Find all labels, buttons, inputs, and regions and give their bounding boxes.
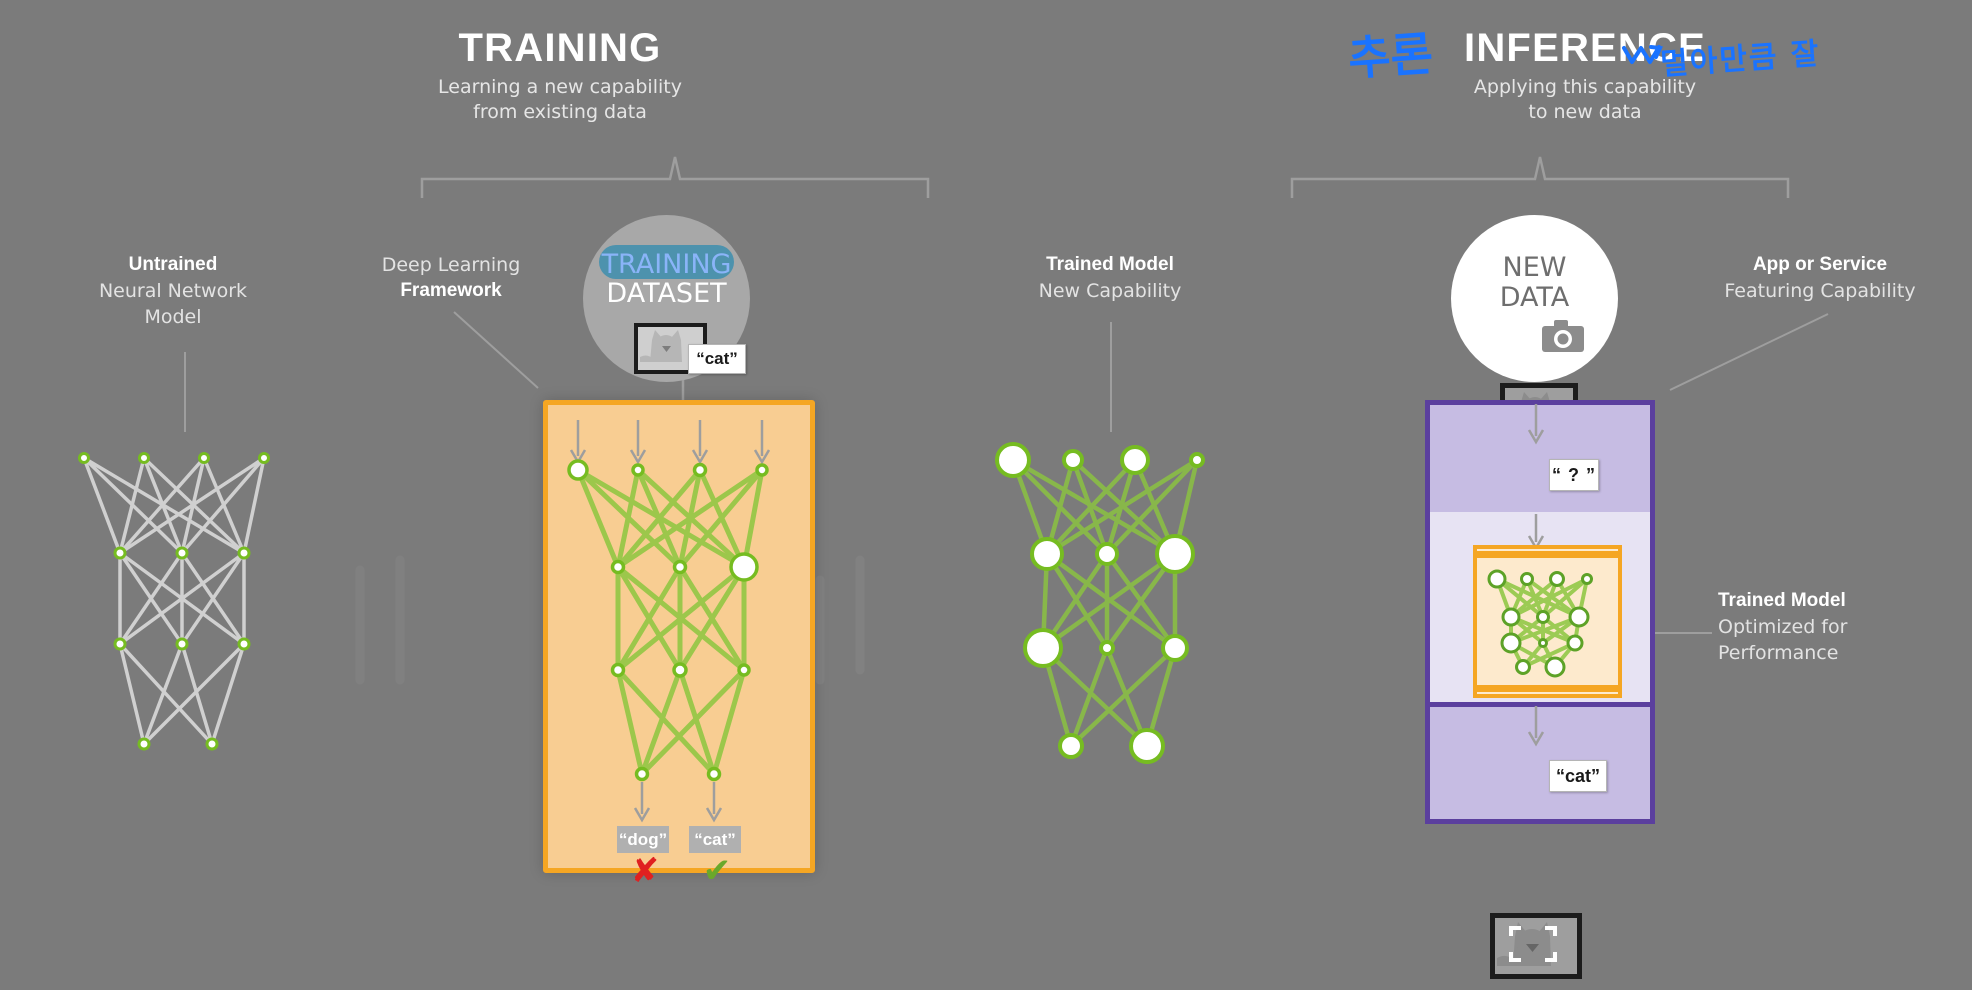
camera-icon	[1540, 318, 1586, 352]
trained-model-center-bold: Trained Model	[985, 252, 1235, 278]
trained-model-center-connector	[1110, 322, 1112, 432]
framework-connector	[452, 310, 542, 390]
inference-output-photo	[1490, 913, 1582, 979]
trained-network	[995, 448, 1225, 768]
app-or-service-label: App or Service Featuring Capability	[1695, 252, 1945, 304]
output-cat-tag: “cat”	[689, 826, 741, 853]
framework-label-line1: Deep Learning	[336, 252, 566, 278]
training-title: TRAINING	[380, 26, 740, 71]
inference-output-tag: “cat”	[1549, 760, 1607, 792]
diagram-canvas: TRAINING Learning a new capability from …	[0, 0, 1972, 990]
framework-label: Deep Learning Framework	[336, 252, 566, 304]
untrained-connector	[184, 352, 186, 432]
new-data-line2: DATA	[1451, 281, 1618, 314]
trained-model-right-line1: Optimized for	[1718, 614, 1972, 640]
training-output-arrows	[628, 780, 738, 828]
trained-model-center-label: Trained Model New Capability	[985, 252, 1235, 304]
training-network	[566, 462, 796, 792]
inference-subtitle-line1: Applying this capability	[1260, 75, 1910, 100]
untrained-label: Untrained Neural Network Model	[48, 252, 298, 330]
output-dog-cross-icon: ✘	[630, 854, 660, 888]
cat-icon	[638, 327, 695, 362]
training-subtitle-line2: from existing data	[380, 100, 740, 125]
training-dataset-line2: DATASET	[583, 277, 750, 310]
squiggle-icon	[1622, 44, 1662, 68]
inference-output-arrow	[1525, 706, 1547, 752]
framework-label-bold: Framework	[336, 278, 566, 304]
training-bracket	[420, 155, 930, 200]
optimized-model-box	[1473, 545, 1622, 698]
inference-question-tag: “ ? ”	[1549, 459, 1599, 491]
trained-model-center-line1: New Capability	[985, 278, 1235, 304]
app-or-service-line1: Featuring Capability	[1695, 278, 1945, 304]
dataset-cat-tag: “cat”	[688, 344, 746, 374]
inference-input-arrow	[1525, 404, 1547, 450]
output-cat-check-icon: ✔	[702, 854, 732, 888]
new-data-line1: NEW	[1451, 251, 1618, 284]
new-data-circle: NEW DATA	[1451, 215, 1618, 382]
untrained-label-line1: Neural Network	[48, 278, 298, 304]
untrained-network	[72, 448, 292, 768]
app-or-service-connector	[1660, 312, 1830, 396]
inference-bracket	[1290, 155, 1790, 200]
untrained-label-bold: Untrained	[48, 252, 298, 278]
optimized-box-bottom-bar	[1477, 685, 1618, 692]
optimized-network	[1487, 571, 1603, 675]
untrained-label-line2: Model	[48, 304, 298, 330]
trained-model-right-line2: Performance	[1718, 640, 1972, 666]
output-dog-tag: “dog”	[617, 826, 669, 853]
app-or-service-bold: App or Service	[1695, 252, 1945, 278]
optimized-box-top-bar	[1477, 551, 1618, 558]
training-subtitle-line1: Learning a new capability	[380, 75, 740, 100]
trained-model-right-bold: Trained Model	[1718, 588, 1972, 614]
detection-bracket-icon	[1495, 918, 1569, 966]
inference-subtitle-line2: to new data	[1260, 100, 1910, 125]
trained-model-right-label: Trained Model Optimized for Performance	[1718, 588, 1972, 666]
